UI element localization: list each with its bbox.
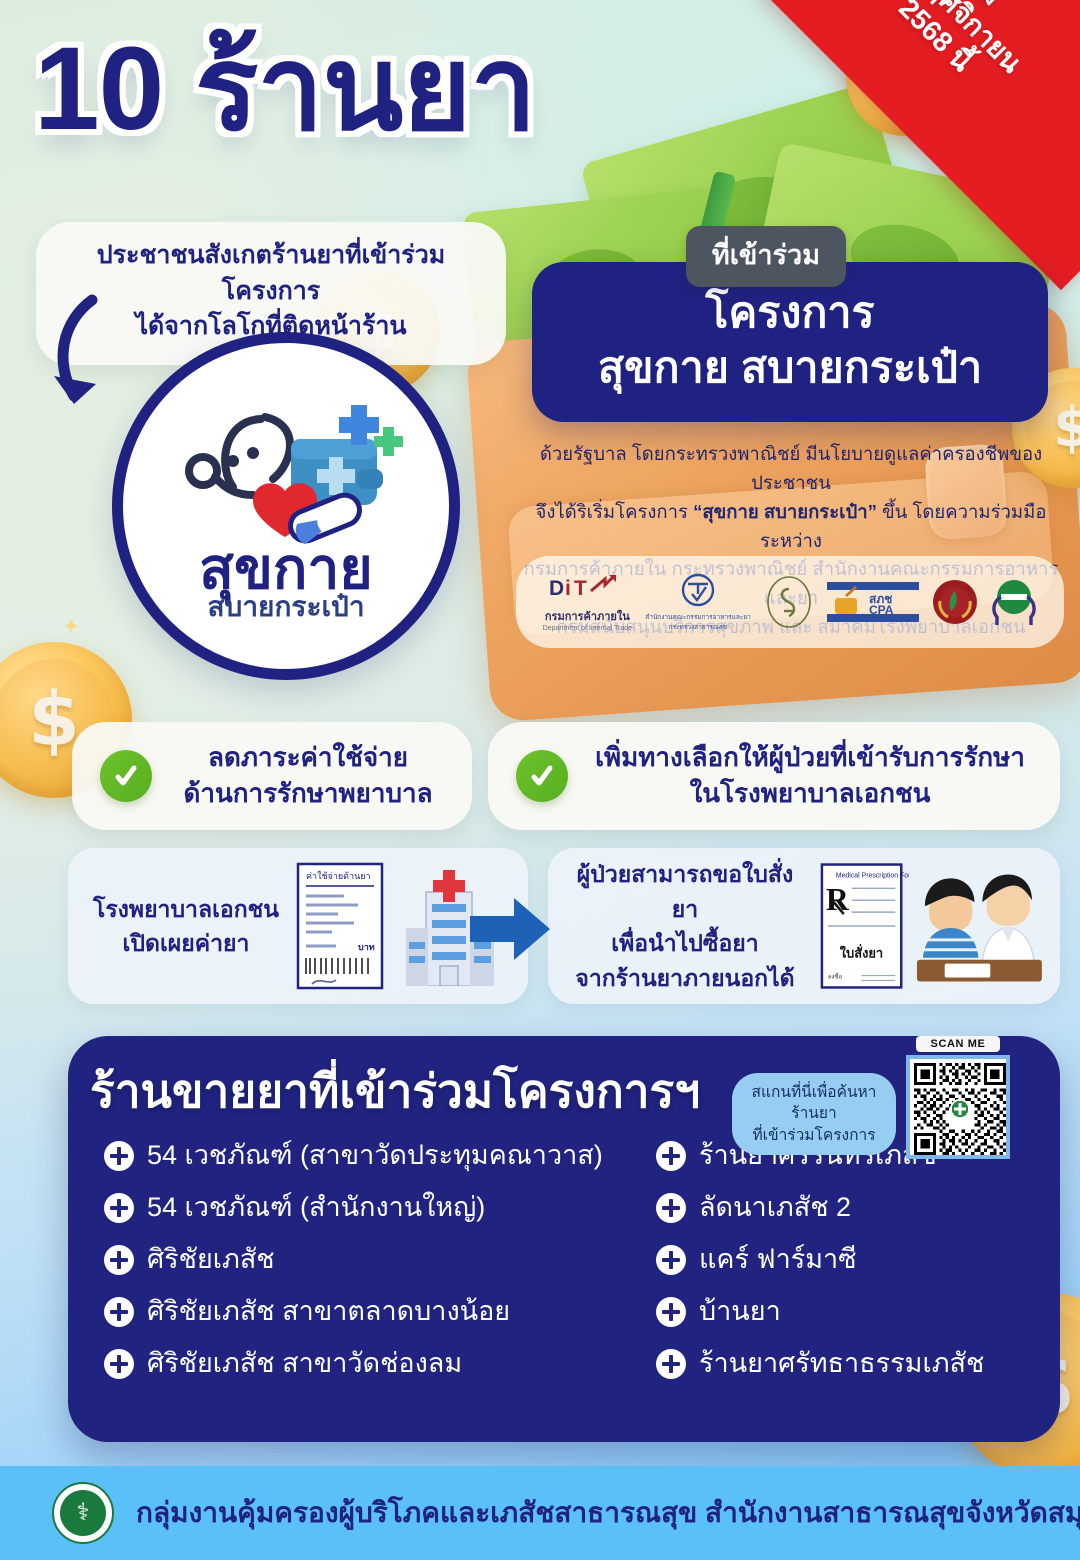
svg-text:R: R: [826, 882, 850, 917]
dit-caption: กรมการค้าภายใน: [545, 607, 630, 625]
dit-logo-icon: D i T: [547, 573, 627, 607]
pharmacy-name: ศิริชัยเภสัช สาขาวัดช่องลม: [147, 1346, 462, 1380]
footer-bar: ⚕ กลุ่มงานคุ้มครองผู้บริโภคและเภสัชสาธาร…: [0, 1466, 1080, 1560]
svg-text:ค่าใช้จ่ายด้านยา: ค่าใช้จ่ายด้านยา: [306, 871, 371, 881]
scan-me-label: SCAN ME: [916, 1036, 1000, 1052]
logo-subword: สบายกระเป๋า: [207, 593, 364, 621]
benefit-1-line-2: ด้านการรักษาพยาบาล: [172, 776, 444, 812]
pharmacy-column-left: 54 เวชภัณฑ์ (สาขาวัดประทุมคณาวาส) 54 เวช…: [104, 1138, 644, 1398]
fda-caption-en: กระทรวงสาธารณสุข: [669, 622, 728, 632]
fda-caption: สำนักงานคณะกรรมการอาหารและยา: [645, 612, 751, 622]
plus-icon: [104, 1193, 134, 1223]
desc-line-1: ด้วยรัฐบาล โดยกระทรวงพาณิชย์ มีนโยบายดูแ…: [508, 440, 1074, 498]
plus-icon: [656, 1297, 686, 1327]
svg-text:i: i: [565, 577, 571, 600]
hss-logo-icon: [932, 579, 978, 625]
pharmacy-name: ร้านยาศรัทธาธรรมเภสัช: [699, 1346, 984, 1380]
svg-text:บาท: บาท: [358, 942, 375, 952]
benefit-card-2: เพิ่มทางเลือกให้ผู้ป่วยที่เข้ารับการรักษ…: [488, 722, 1060, 830]
qr-code-image[interactable]: [906, 1055, 1010, 1159]
svg-text:T: T: [574, 577, 587, 600]
benefit-card-1-text: ลดภาระค่าใช้จ่าย ด้านการรักษาพยาบาล: [172, 740, 444, 812]
qr-code-svg: [914, 1063, 1006, 1155]
list-item: ศิริชัยเภสัช สาขาวัดช่องลม: [104, 1346, 644, 1380]
list-item: ศิริชัยเภสัช สาขาตลาดบางน้อย: [104, 1294, 644, 1328]
process-1-line-2: เปิดเผยค่ายา: [86, 926, 286, 961]
joined-tag: ที่เข้าร่วม: [686, 226, 846, 287]
benefit-1-line-1: ลดภาระค่าใช้จ่าย: [172, 740, 444, 776]
poster-root: $ $ $ $ $ ✦ ✦ 10 ร้านยา เริ่ม 4 พฤศจิกาย…: [0, 0, 1080, 1560]
list-item: 54 เวชภัณฑ์ (สำนักงานใหญ่): [104, 1190, 644, 1224]
pharmacist-patient-icon: [911, 866, 1042, 986]
process-card-prescription: ผู้ป่วยสามารถขอใบสั่งยา เพื่อนำไปซื้อยา …: [548, 848, 1060, 1004]
pharmacy-name: 54 เวชภัณฑ์ (สำนักงานใหญ่): [147, 1190, 485, 1224]
list-item: ร้านยาศรัทธาธรรมเภสัช: [656, 1346, 1036, 1380]
pharmacy-column-right: ร้านยาศิรรินทร์เภสัช ลัดนาเภสัช 2 แคร์ ฟ…: [656, 1138, 1036, 1398]
scan-line-2: ที่เข้าร่วมโครงการ: [742, 1125, 886, 1146]
scan-instruction-pill: สแกนที่นี่เพื่อค้นหาร้านยา ที่เข้าร่วมโค…: [732, 1073, 896, 1155]
pharmacy-name: ศิริชัยเภสัช สาขาตลาดบางน้อย: [147, 1294, 510, 1328]
desc-line-2a: จึงได้ริเริ่มโครงการ: [536, 501, 694, 522]
list-item: แคร์ ฟาร์มาซี: [656, 1242, 1036, 1276]
pharmacy-name: บ้านยา: [699, 1294, 781, 1328]
pharmacy-council-logo-icon: [764, 575, 814, 629]
sparkle-icon: ✦: [62, 616, 80, 638]
svg-text:Medical Prescription Form: Medical Prescription Form: [836, 872, 909, 879]
svg-text:D: D: [549, 577, 564, 600]
pharmacy-name: ลัดนาเภสัช 2: [699, 1190, 851, 1224]
agency-logo-strip: D i T กรมการค้าภายใน Department of Inter…: [516, 556, 1064, 648]
check-icon: [100, 750, 152, 802]
flow-arrow-icon: [468, 896, 552, 962]
process-2-line-1: ผู้ป่วยสามารถขอใบสั่งยา: [566, 857, 804, 926]
plus-icon: [104, 1141, 134, 1171]
benefit-2-line-2: ในโรงพยาบาลเอกชน: [588, 776, 1032, 812]
desc-program-name: “สุขกาย สบายกระเป๋า”: [693, 501, 877, 522]
svg-text:ลงชื่อ: ลงชื่อ: [828, 973, 843, 981]
footer-text: กลุ่มงานคุ้มครองผู้บริโภคและเภสัชสาธารณส…: [136, 1496, 1080, 1530]
agency-logo-hss: [932, 579, 978, 625]
plus-icon: [656, 1349, 686, 1379]
list-item: ศิริชัยเภสัช: [104, 1242, 644, 1276]
process-card-hospital: โรงพยาบาลเอกชน เปิดเผยค่ายา ค่าใช้จ่ายด้…: [68, 848, 528, 1004]
private-hospital-logo-icon: [991, 577, 1037, 627]
process-1-text: โรงพยาบาลเอกชน เปิดเผยค่ายา: [86, 892, 286, 961]
benefit-card-2-text: เพิ่มทางเลือกให้ผู้ป่วยที่เข้ารับการรักษ…: [588, 740, 1032, 812]
agency-logo-cpa: สภช CPA: [827, 582, 919, 622]
prescription-document-icon: Medical Prescription Form R ใบสั่งยา ลงช…: [814, 860, 909, 992]
plus-icon: [656, 1245, 686, 1275]
program-logo-art: [161, 391, 411, 551]
plus-icon: [104, 1297, 134, 1327]
project-title-line-1: โครงการ: [552, 286, 1028, 341]
bill-document-icon: ค่าใช้จ่ายด้านยา บาท: [292, 860, 388, 992]
plus-icon: [656, 1141, 686, 1171]
plus-icon: [104, 1349, 134, 1379]
agency-logo-pharmacy-council: [764, 575, 814, 629]
pharmacy-list-title: ร้านขายยาที่เข้าร่วมโครงการฯ: [90, 1064, 700, 1119]
agency-logo-fda: สำนักงานคณะกรรมการอาหารและยา กระทรวงสาธา…: [645, 572, 751, 632]
moph-seal-icon: ⚕: [52, 1482, 114, 1544]
check-icon: [516, 750, 568, 802]
agency-logo-private-hospital: [991, 577, 1037, 627]
qr-code-block[interactable]: SCAN ME: [906, 1036, 1010, 1159]
plus-icon: [656, 1193, 686, 1223]
process-2-line-3: จากร้านยาภายนอกได้: [566, 961, 804, 996]
pharmacy-name: ศิริชัยเภสัช: [147, 1242, 275, 1276]
svg-text:CPA: CPA: [869, 603, 894, 617]
program-logo-badge: สุขกาย สบายกระเป๋า: [112, 332, 460, 680]
pharmacy-name: แคร์ ฟาร์มาซี: [699, 1242, 857, 1276]
page-title: 10 ร้านยา: [34, 22, 536, 158]
project-title-line-2: สุขกาย สบายกระเป๋า: [552, 341, 1028, 396]
pharmacy-name: 54 เวชภัณฑ์ (สาขาวัดประทุมคณาวาส): [147, 1138, 603, 1172]
plus-icon: [104, 1245, 134, 1275]
list-item: บ้านยา: [656, 1294, 1036, 1328]
scan-line-1: สแกนที่นี่เพื่อค้นหาร้านยา: [742, 1082, 886, 1125]
fda-logo-icon: [678, 572, 718, 612]
process-2-text: ผู้ป่วยสามารถขอใบสั่งยา เพื่อนำไปซื้อยา …: [566, 857, 804, 995]
list-item: ลัดนาเภสัช 2: [656, 1190, 1036, 1224]
agency-logo-dit: D i T กรมการค้าภายใน Department of Inter…: [543, 573, 633, 632]
benefit-card-1: ลดภาระค่าใช้จ่าย ด้านการรักษาพยาบาล: [72, 722, 472, 830]
process-2-line-2: เพื่อนำไปซื้อยา: [566, 926, 804, 961]
caduceus-icon: ⚕: [60, 1490, 106, 1536]
process-1-line-1: โรงพยาบาลเอกชน: [86, 892, 286, 927]
benefit-2-line-1: เพิ่มทางเลือกให้ผู้ป่วยที่เข้ารับการรักษ…: [588, 740, 1032, 776]
svg-text:ใบสั่งยา: ใบสั่งยา: [840, 944, 883, 961]
desc-line-2: จึงได้ริเริ่มโครงการ “สุขกาย สบายกระเป๋า…: [508, 498, 1074, 556]
cpa-logo-icon: สภช CPA: [827, 582, 919, 622]
dit-caption-en: Department of Internal Trade: [543, 625, 633, 632]
list-item: 54 เวชภัณฑ์ (สาขาวัดประทุมคณาวาส): [104, 1138, 644, 1172]
